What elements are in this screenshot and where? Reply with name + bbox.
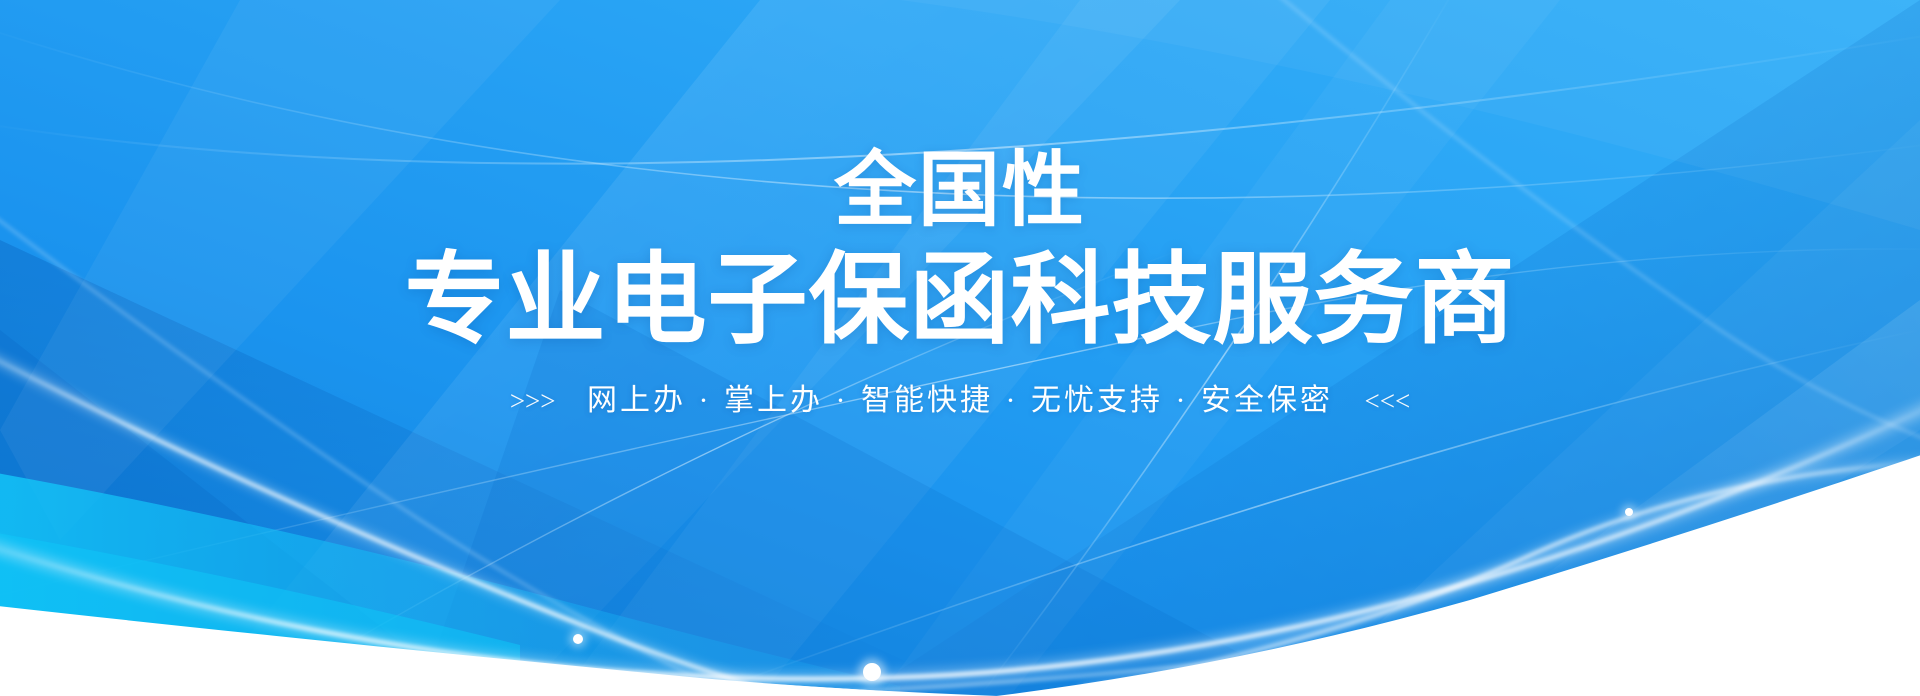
node-bottom-right bbox=[1555, 641, 1569, 655]
node-right-upper bbox=[1625, 508, 1633, 516]
hero-banner: 全国性 专业电子保函科技服务商 >>> 网上办 · 掌上办 · 智能快捷 · 无… bbox=[0, 0, 1920, 696]
node-bottom-center bbox=[863, 663, 881, 681]
node-bottom-left bbox=[573, 634, 583, 644]
background-artwork bbox=[0, 0, 1920, 696]
